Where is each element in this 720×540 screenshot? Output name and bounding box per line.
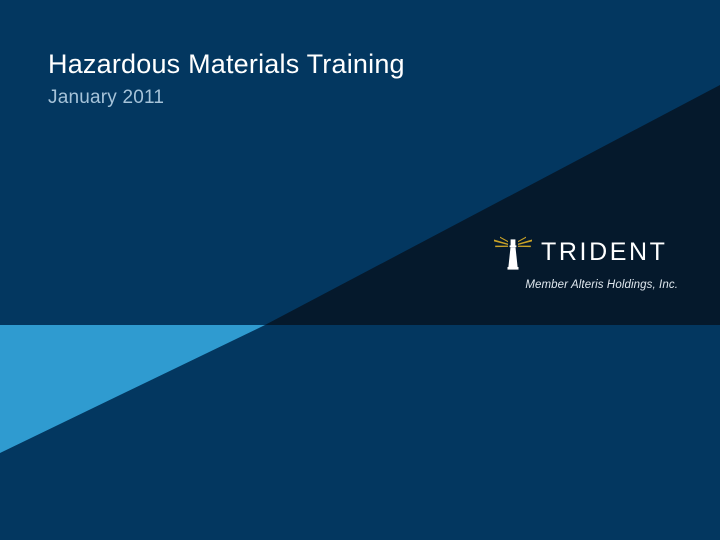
slide-subtitle-date: January 2011 [48,87,668,110]
lighthouse-icon [492,231,534,273]
logo-row: TRIDENT [492,230,682,274]
logo-tagline: Member Alteris Holdings, Inc. [492,279,682,291]
title-block: Hazardous Materials Training January 201… [48,48,668,110]
logo-wordmark: TRIDENT [541,240,668,265]
title-slide: Hazardous Materials Training January 201… [0,0,720,540]
slide-title: Hazardous Materials Training [48,48,668,81]
logo-lockup: TRIDENT Member Alteris Holdings, Inc. [492,230,682,291]
